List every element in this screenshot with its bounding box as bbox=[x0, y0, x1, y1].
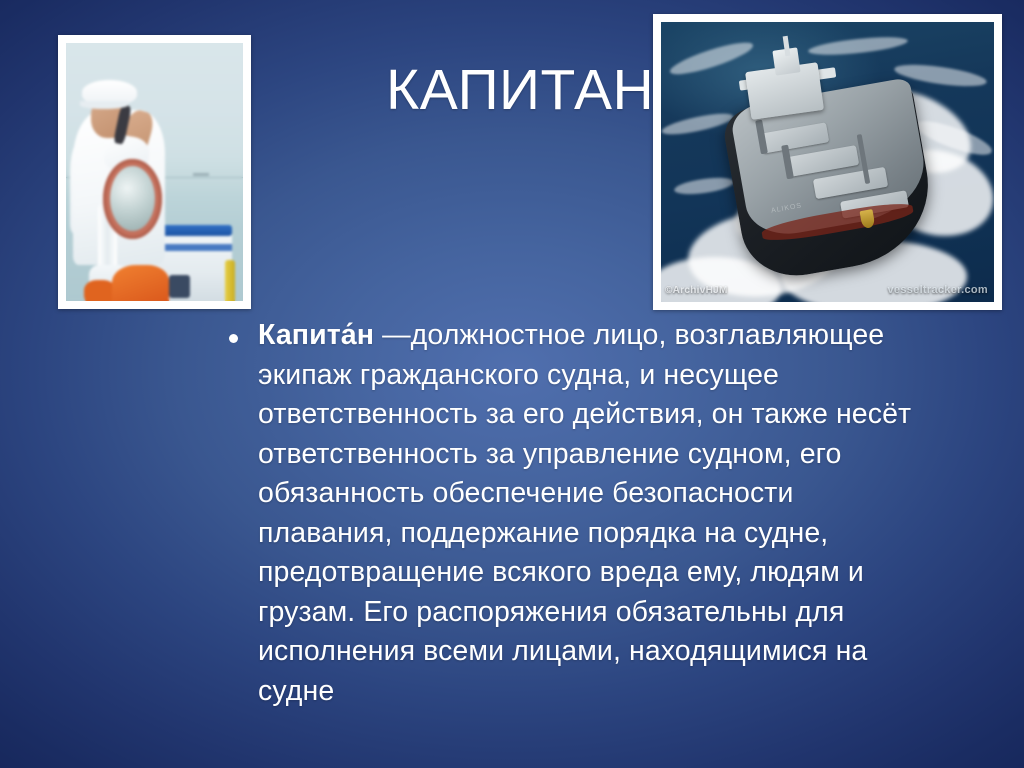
presentation-slide: ALIKOS ©ArchivHJM vesseltracker.com КАПИ… bbox=[0, 0, 1024, 768]
distant-vessel bbox=[193, 173, 209, 176]
bullet-body-text: —должностное лицо, возглавляющее экипаж … bbox=[258, 319, 911, 707]
ship-photo: ALIKOS ©ArchivHJM vesseltracker.com bbox=[661, 22, 994, 302]
bullet-item: Капита́н —должностное лицо, возглавляюще… bbox=[229, 316, 929, 711]
bullet-lead-word: Капита́н bbox=[258, 319, 374, 351]
bullet-marker-icon bbox=[229, 316, 258, 348]
deck-fitting bbox=[169, 275, 190, 298]
captain-photo bbox=[66, 43, 243, 301]
life-ring bbox=[112, 265, 169, 301]
yellow-bollard bbox=[225, 260, 235, 301]
captain-photo-frame[interactable] bbox=[58, 35, 251, 309]
bullet-paragraph: Капита́н —должностное лицо, возглавляюще… bbox=[258, 316, 929, 711]
life-ring-secondary bbox=[84, 280, 116, 301]
ship-photo-frame[interactable]: ALIKOS ©ArchivHJM vesseltracker.com bbox=[653, 14, 1002, 310]
slide-title: КАПИТАН bbox=[386, 62, 666, 119]
captain-hat-brim bbox=[80, 101, 128, 109]
body-content: Капита́н —должностное лицо, возглавляюще… bbox=[229, 316, 929, 711]
watermark-archivhjm: ©ArchivHJM bbox=[665, 285, 728, 296]
watermark-vesseltracker: vesseltracker.com bbox=[887, 284, 988, 296]
